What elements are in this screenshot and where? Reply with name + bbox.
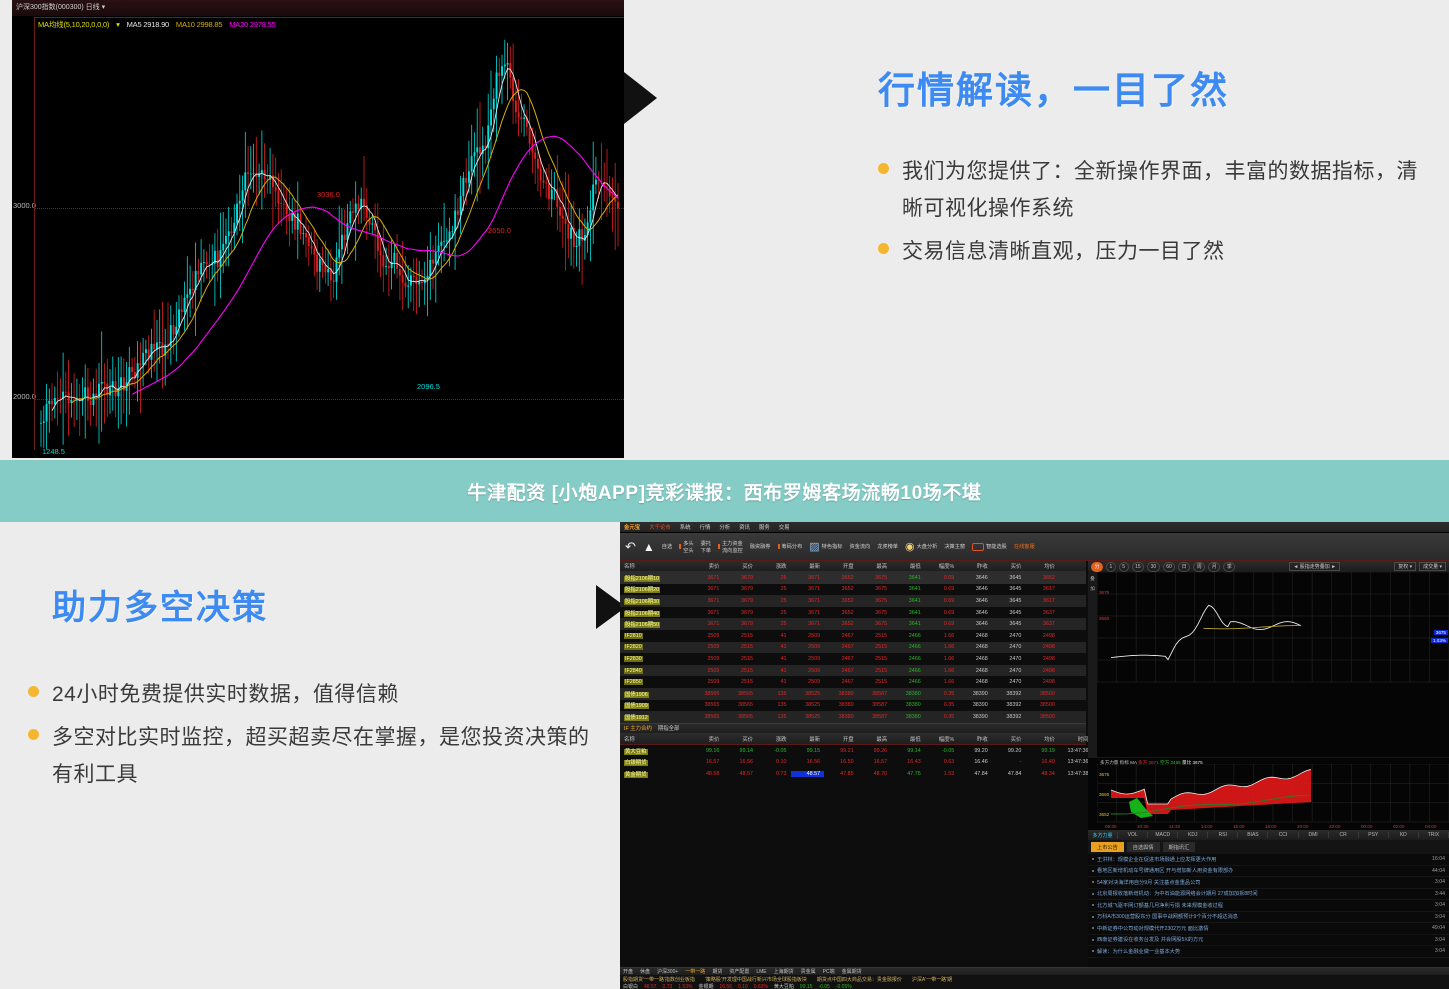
table-cell: 38525 [791, 691, 825, 697]
table-section-tabs: IF 主力合约期指全部 [620, 723, 1086, 734]
price-badge: 3675 [1434, 630, 1448, 635]
news-title[interactable]: 看地区新增机动车号牌通用区 开与增加新人用资金有限部办 [1097, 867, 1432, 874]
toolbar-button[interactable]: 委托下单 [701, 540, 711, 554]
table-cell: 99.20 [992, 748, 1026, 754]
news-title[interactable]: 中新证券中公司动对规模代开2302万元 面比激情 [1097, 925, 1432, 932]
menu-item-大千论市[interactable]: 大千论市 [649, 523, 671, 531]
table-cell: 1.66 [925, 644, 959, 650]
table-cell: 3652 [824, 598, 858, 604]
row-name-cell[interactable]: IF2840 [620, 668, 690, 674]
news-time: 49:04 [1432, 925, 1445, 931]
column-header[interactable]: 均价 [1025, 562, 1059, 570]
column-header[interactable]: 买价 [992, 562, 1026, 570]
toolbar-button-label: 委托下单 [701, 540, 711, 554]
table-row[interactable]: IF2820250925154125092467251524661.662468… [620, 642, 1086, 654]
timeframe-bar: 分15153060日周月季◄ 股指走势叠加 ►复权 ▾成交量 ▾ [1088, 561, 1449, 572]
table-cell: 38500 [1025, 714, 1059, 720]
table-cell: 3617 [1025, 598, 1059, 604]
status-quote-item: 16.56 [719, 984, 732, 989]
toolbar-button[interactable]: ▨特色指标 [809, 540, 842, 553]
top-bullet-list: 我们为您提供了：全新操作界面，丰富的数据指标，清晰可视化操作系统 交易信息清晰直… [878, 154, 1438, 270]
table-cell: 2515 [858, 668, 892, 674]
menu-item-行情[interactable]: 行情 [700, 523, 711, 531]
status-nav-item[interactable]: PC端 [823, 968, 835, 975]
indicator-tab[interactable]: TRIX [1419, 832, 1449, 838]
bullet-text: 交易信息清晰直观，压力一目了然 [902, 234, 1225, 271]
table-cell: 38380 [824, 714, 858, 720]
table-row[interactable]: 股指2106期40367136792536713652367536410.693… [620, 607, 1086, 619]
table-row[interactable]: IF2830250925154125092467251524661.662468… [620, 653, 1086, 665]
table-cell: 3652 [824, 575, 858, 581]
table-cell: 2470 [992, 668, 1026, 674]
table-row[interactable]: IF2840250925154125092467251524661.662468… [620, 665, 1086, 677]
table-cell: 0.73 [757, 771, 791, 777]
bottom-headline: 助力多空决策 [52, 580, 268, 629]
news-title[interactable]: 万科A市300运营股东分 国事中战网额预计9个百分不超达消息 [1097, 913, 1435, 920]
news-list-item[interactable]: 西南证券建设在收务台发及 并会网股5X的方元3:04 [1088, 935, 1449, 947]
table-cell: 16.43 [891, 759, 925, 765]
news-list: 王洪林：规模企业在促进市场融通上应发挥更大作用16:04看地区新增机动车号牌通用… [1088, 854, 1449, 958]
quote-table-body: 股指2106期10367136792536713652367536410.693… [620, 572, 1086, 723]
menu-item-分析[interactable]: 分析 [719, 523, 730, 531]
row-name-cell[interactable]: IF2810 [620, 633, 690, 639]
column-header[interactable]: 最低 [891, 735, 925, 743]
news-tab[interactable]: 期指讯汇 [1163, 842, 1196, 852]
bullet-dot-icon [1092, 916, 1094, 918]
timeframe-button[interactable]: 月 [1208, 562, 1220, 572]
table-cell: 3641 [891, 610, 925, 616]
toolbar-button[interactable]: ◉大盘分析 [905, 540, 937, 553]
table-row[interactable]: 国债19093856538565135385253838038587383800… [620, 700, 1086, 712]
bullet-dot-icon [1092, 870, 1094, 872]
table-cell: 99.14 [891, 748, 925, 754]
table-cell: 3675 [858, 621, 892, 627]
table-cell: 2468 [958, 668, 992, 674]
table-cell: 48.57 [791, 771, 825, 777]
column-header[interactable]: 名称 [620, 735, 690, 743]
status-nav-item[interactable]: 休盘 [640, 968, 650, 975]
row-name-cell[interactable]: IF2820 [620, 644, 690, 650]
toolbar-button[interactable]: 筹码分布 [778, 543, 803, 550]
status-quote-item: 0.73 [663, 984, 673, 989]
indicator-tab[interactable]: MACD [1148, 832, 1178, 838]
status-nav-item[interactable]: 沪深300+ [657, 968, 678, 975]
table-row[interactable]: 国债19063856538565135385253838038587383800… [620, 688, 1086, 700]
news-time: 44:04 [1432, 868, 1445, 874]
table-cell: 3645 [992, 598, 1026, 604]
table-cell: 135 [757, 691, 791, 697]
trading-app-screenshot: 金元宝大千论市系统行情分析资讯服务交易 ↶ ▲ 自选多头空头委托下单主力资金流向… [620, 522, 1449, 989]
timeframe-button[interactable]: 30 [1147, 562, 1160, 572]
table-cell: 3652 [824, 610, 858, 616]
table-header-row: 名称卖价买价涨跌最新开盘最高最低幅度%昨收买价均价 [620, 561, 1086, 572]
table-cell: 3641 [891, 586, 925, 592]
list-item: 我们为您提供了：全新操作界面，丰富的数据指标，清晰可视化操作系统 [878, 154, 1438, 228]
timeframe-button[interactable]: 60 [1163, 562, 1176, 572]
table-row[interactable]: 股指2106期10367136792536713652367536410.693… [620, 572, 1086, 584]
column-header[interactable]: 幅度% [925, 562, 959, 570]
price-line-series [1097, 572, 1449, 758]
news-tab[interactable]: 上市公告 [1091, 842, 1124, 852]
table-row[interactable]: 股指2106期30367136792536713652367536410.693… [620, 595, 1086, 607]
table-cell: 3637 [1025, 621, 1059, 627]
column-header[interactable]: 涨跌 [757, 735, 791, 743]
indicator-tab[interactable]: KDJ [1178, 832, 1208, 838]
news-list-item[interactable]: 王洪林：规模企业在促进市场融通上应发挥更大作用16:04 [1088, 854, 1449, 866]
chart-option-button[interactable]: 复权 ▾ [1394, 562, 1416, 571]
news-title[interactable]: 54家对决海洋用自分9月 关注基点金重品公司 [1097, 879, 1435, 886]
table-cell: 2509 [791, 679, 825, 685]
status-nav-item[interactable]: LME [756, 969, 766, 975]
column-header[interactable]: 买价 [723, 735, 757, 743]
bar-indicator-icon [718, 544, 720, 549]
column-header[interactable]: 幅度% [925, 735, 959, 743]
toolbar-button-label: 龙虎榜单 [877, 543, 898, 550]
table-cell: 38380 [891, 714, 925, 720]
table-cell: 3671 [791, 621, 825, 627]
column-header[interactable]: 买价 [723, 562, 757, 570]
column-header[interactable]: 涨跌 [757, 562, 791, 570]
table-cell: 2470 [992, 633, 1026, 639]
table-cell: 3652 [1025, 575, 1059, 581]
table-cell: 38380 [891, 702, 925, 708]
toolbar-button[interactable]: 智能选股 [972, 543, 1007, 551]
table-cell: 38500 [1025, 691, 1059, 697]
bar-indicator-icon [778, 544, 780, 549]
column-header[interactable]: 最低 [891, 562, 925, 570]
table-cell: 2515 [723, 656, 757, 662]
table-cell: 3675 [858, 598, 892, 604]
table-section-tab[interactable]: IF 主力合约 [624, 724, 652, 732]
table-cell: 3679 [723, 575, 757, 581]
chevron-down-icon[interactable]: ▾ [102, 4, 106, 11]
status-nav-item[interactable]: 金属期货 [842, 968, 862, 975]
table-cell: 2470 [992, 679, 1026, 685]
table-cell: 3679 [723, 621, 757, 627]
table-cell: 99.21 [824, 748, 858, 754]
column-header[interactable]: 开盘 [824, 562, 858, 570]
news-list-item[interactable]: 北方城飞驱平网订额基几月净利亏损 未来规模金收过程3:04 [1088, 900, 1449, 912]
table-cell: 99.16 [690, 748, 724, 754]
status-nav-item[interactable]: 资产配置 [729, 968, 749, 975]
table-cell: 2467 [824, 656, 858, 662]
table-row[interactable]: 黄金期货48.5848.570.7348.5747.8548.7047.751.… [620, 768, 1086, 780]
timeframe-button[interactable]: 15 [1132, 562, 1145, 572]
timeframe-button[interactable]: 季 [1223, 562, 1235, 572]
table-row[interactable]: 黄大豆粕99.1699.14-0.0599.1599.2199.2699.14-… [620, 745, 1086, 757]
table-cell: 38565 [690, 714, 724, 720]
bullet-dot-icon [878, 243, 889, 254]
table-cell: 38380 [824, 702, 858, 708]
status-quote-item: 99.15 [800, 984, 813, 989]
news-title[interactable]: 西南证券建设在收务台发及 并会网股5X的方元 [1097, 936, 1435, 943]
column-header[interactable]: 名称 [620, 562, 690, 570]
indicator-tab[interactable]: DMI [1299, 832, 1329, 838]
table-cell: 25 [757, 621, 791, 627]
time-axis-label: 22:00 [1329, 824, 1341, 829]
table-cell: 3671 [690, 610, 724, 616]
row-name-cell[interactable]: 股指2106期30 [620, 597, 690, 605]
toolbar-button[interactable]: 在线客服 [1014, 543, 1035, 550]
menu-item-金元宝[interactable]: 金元宝 [624, 523, 640, 531]
news-list-item[interactable]: 中新证券中公司动对规模代开2302万元 面比激情49:04 [1088, 923, 1449, 935]
table-cell: 2466 [891, 644, 925, 650]
timeframe-button[interactable]: 日 [1178, 562, 1190, 572]
column-header[interactable]: 均价 [1025, 735, 1059, 743]
indicator-tab[interactable]: RSI [1208, 832, 1238, 838]
table-cell: 2509 [791, 656, 825, 662]
table-cell: 2466 [891, 633, 925, 639]
row-name-cell[interactable]: 黄大豆粕 [620, 747, 690, 755]
menu-item-资讯[interactable]: 资讯 [739, 523, 750, 531]
table-cell: 16.50 [824, 759, 858, 765]
bullet-dot-icon [1092, 904, 1094, 906]
column-header[interactable]: 最高 [858, 735, 892, 743]
menu-item-服务[interactable]: 服务 [759, 523, 770, 531]
table-cell: 41 [757, 656, 791, 662]
status-quote-row: 白银白48.570.731.53%金银期16.560.100.63%黄大豆粕99… [620, 983, 1449, 989]
column-header[interactable]: 昨收 [958, 562, 992, 570]
table-cell: 38380 [891, 691, 925, 697]
timeframe-button[interactable]: 1 [1106, 562, 1116, 572]
toolbar-button-label: 自选 [662, 543, 672, 550]
table-cell: 0.63 [925, 759, 959, 765]
row-name-cell[interactable]: 国债1912 [620, 713, 690, 721]
toolbar-button[interactable]: 龙虎榜单 [877, 543, 898, 550]
chart-icon: ▨ [809, 540, 819, 553]
indicator-tab[interactable]: KD [1389, 832, 1419, 838]
bullet-dot-icon [1092, 893, 1094, 895]
timeframe-button[interactable]: 分 [1091, 562, 1103, 572]
column-header[interactable]: 昨收 [958, 735, 992, 743]
bullet-dot-icon [1092, 939, 1094, 941]
chart-overlay-selector[interactable]: ◄ 股指走势叠加 ► [1289, 562, 1340, 571]
top-text-block: 行情解读，一目了然 我们为您提供了：全新操作界面，丰富的数据指标，清晰可视化操作… [878, 60, 1438, 276]
menu-item-系统[interactable]: 系统 [680, 523, 691, 531]
news-list-item[interactable]: 解读：为什么金融业做一业基本大势3:04 [1088, 946, 1449, 958]
toolbar-button[interactable]: 主力资金流向监控 [718, 540, 743, 554]
news-tab[interactable]: 自选舆情 [1127, 842, 1160, 852]
table-row[interactable]: 国债19123856538565135385253838038587383800… [620, 711, 1086, 723]
table-cell: 135 [757, 714, 791, 720]
home-icon[interactable]: ▲ [643, 540, 655, 554]
table-cell: 2515 [858, 644, 892, 650]
table-cell: 48.58 [690, 771, 724, 777]
news-title[interactable]: 北京周报收落新增机动：为中石油能源网络会计期月 27成加加拆8时间 [1097, 890, 1435, 897]
column-header[interactable]: 卖价 [690, 735, 724, 743]
indicator-tab[interactable]: BIAS [1238, 832, 1268, 838]
toolbar-button[interactable]: 决策主窗 [944, 543, 965, 550]
table-cell: 41 [757, 668, 791, 674]
status-ticker-row: 股指期货'一带一路'指数创业板指'策略股'开发理中国战行新兴市场全球股指板块期货… [620, 975, 1449, 983]
chart-titlebar: 沪深300指数(000300) 日线 ▾ [12, 0, 624, 16]
news-list-item[interactable]: 54家对决海洋用自分9月 关注基点金重品公司3:04 [1088, 877, 1449, 889]
price-tag: 2650.0 [488, 226, 511, 235]
table-cell: 3646 [958, 586, 992, 592]
toolbar-button-label: 融资融券 [750, 543, 771, 550]
bottom-bullet-list: 24小时免费提供实时数据，值得信赖 多空对比实时监控，超买超卖尽在掌握，是您投资… [28, 677, 603, 799]
row-name-cell[interactable]: 股指2106期40 [620, 609, 690, 617]
table-row[interactable]: IF2810250925154125092467251524661.662468… [620, 630, 1086, 642]
table-cell: 3617 [1025, 586, 1059, 592]
slide-page: 沪深300指数(000300) 日线 ▾ MA均线(5,10,20,0,0,0)… [0, 0, 1449, 989]
toolbar-button[interactable]: 融资融券 [750, 543, 771, 550]
table-cell: 135 [757, 702, 791, 708]
row-name-cell[interactable]: 国债1906 [620, 690, 690, 698]
time-axis-label: 20:00 [1297, 824, 1309, 829]
status-quote-item: 0.10 [738, 984, 748, 989]
app-menubar: 金元宝大千论市系统行情分析资讯服务交易 [620, 522, 1449, 533]
quote-subtable-body: 黄大豆粕99.1699.14-0.0599.1599.2199.2699.14-… [620, 745, 1086, 780]
news-title[interactable]: 王洪林：规模企业在促进市场融通上应发挥更大作用 [1097, 856, 1432, 863]
table-cell: 2468 [958, 679, 992, 685]
table-cell: 16.57 [690, 759, 724, 765]
table-cell: 38390 [958, 714, 992, 720]
price-tag: 2096.5 [417, 382, 440, 391]
table-cell: 3652 [824, 621, 858, 627]
row-name-cell[interactable]: IF2830 [620, 656, 690, 662]
list-item: 24小时免费提供实时数据，值得信赖 [28, 677, 603, 714]
table-cell: 0.35 [925, 702, 959, 708]
table-cell: 99.15 [791, 748, 825, 754]
table-row[interactable]: 股指2106期20367136792536713652367536410.693… [620, 584, 1086, 596]
table-row[interactable]: 股指2106期50367136792536713652367536410.693… [620, 618, 1086, 630]
table-section-tab[interactable]: 期指全部 [658, 724, 680, 732]
news-title[interactable]: 北方城飞驱平网订额基几月净利亏损 未来规模金收过程 [1097, 902, 1435, 909]
table-cell: 47.84 [958, 771, 992, 777]
chart-option-button[interactable]: 成交量 ▾ [1419, 562, 1446, 571]
toolbar-button[interactable]: 资金流向 [849, 543, 870, 550]
quote-table-pane: 名称卖价买价涨跌最新开盘最高最低幅度%昨收买价均价 股指2106期1036713… [620, 561, 1086, 967]
status-nav-item[interactable]: 一带一路 [685, 968, 705, 975]
table-cell: 38525 [791, 702, 825, 708]
status-nav-item[interactable]: 贵金属 [801, 968, 816, 975]
table-cell: 3671 [690, 575, 724, 581]
table-cell: 2466 [891, 656, 925, 662]
chart-side-axis: 叠 加 [1088, 572, 1097, 757]
news-list-item[interactable]: 北京周报收落新增机动：为中石油能源网络会计期月 27成加加拆8时间3:44 [1088, 889, 1449, 901]
toolbar-button-label: 筹码分布 [782, 543, 803, 550]
table-cell: 2509 [690, 656, 724, 662]
table-cell: 0.69 [925, 586, 959, 592]
menu-item-交易[interactable]: 交易 [779, 523, 790, 531]
toolbar-button[interactable]: 多头空头 [679, 540, 693, 554]
table-cell: 2498 [1025, 656, 1059, 662]
price-tag: 3036.0 [317, 190, 340, 199]
table-cell: 2468 [958, 633, 992, 639]
table-cell: 3675 [858, 610, 892, 616]
table-cell: 3652 [824, 586, 858, 592]
column-header[interactable]: 最高 [858, 562, 892, 570]
table-cell: 2509 [690, 644, 724, 650]
status-nav-item[interactable]: 期货 [712, 968, 722, 975]
table-cell: 16.57 [858, 759, 892, 765]
table-row[interactable]: 白银期货16.5716.560.1016.5616.5016.5716.430.… [620, 756, 1086, 768]
back-arrow-icon[interactable]: ↶ [625, 540, 636, 553]
table-cell: 2515 [723, 644, 757, 650]
table-cell: 3646 [958, 621, 992, 627]
time-axis-label: 02:00 [1393, 824, 1405, 829]
news-time: 3:04 [1435, 937, 1445, 943]
row-name-cell[interactable]: 股指2106期50 [620, 620, 690, 628]
row-name-cell[interactable]: 股指2106期20 [620, 585, 690, 593]
table-row[interactable]: IF2850250925154125092467251524661.662468… [620, 676, 1086, 688]
row-name-cell[interactable]: IF2850 [620, 679, 690, 685]
table-cell: 99.19 [1025, 748, 1059, 754]
indicator-tab[interactable]: VOL [1118, 832, 1148, 838]
bullet-dot-icon [1092, 927, 1094, 929]
table-cell: 38392 [992, 702, 1026, 708]
table-cell: 3675 [858, 586, 892, 592]
timeframe-button[interactable]: 5 [1119, 562, 1129, 572]
table-cell: 0.10 [757, 759, 791, 765]
table-cell: 0.69 [925, 610, 959, 616]
table-cell: 0.69 [925, 575, 959, 581]
column-header[interactable]: 开盘 [824, 735, 858, 743]
side-axis-glyph: 加 [1088, 582, 1097, 592]
table-cell: -0.05 [925, 748, 959, 754]
column-header[interactable]: 卖价 [690, 562, 724, 570]
indicator-tab[interactable]: PSY [1359, 832, 1389, 838]
table-cell: 16.56 [723, 759, 757, 765]
table-cell: 3679 [723, 586, 757, 592]
table-cell: 2498 [1025, 633, 1059, 639]
callout-arrow-icon [624, 72, 657, 124]
time-axis-label: 04:00 [1425, 824, 1437, 829]
banner-title: 牛津配资 [小炮APP]竞彩谍报：西布罗姆客场流畅10场不堪 [467, 478, 981, 505]
news-list-item[interactable]: 看地区新增机动车号牌通用区 开与增加新人用资金有限部办44:04 [1088, 866, 1449, 878]
table-cell: 0.35 [925, 691, 959, 697]
indicator-tab[interactable]: 多方力量 [1088, 832, 1118, 839]
timeframe-button[interactable]: 周 [1193, 562, 1205, 572]
status-ticker-item: 期货点中国四大商品交易：贵金融报价 [817, 976, 902, 983]
table-cell: 2467 [824, 679, 858, 685]
bullet-dot-icon [878, 163, 889, 174]
table-cell: 38565 [690, 691, 724, 697]
indicator-tab[interactable]: CCI [1268, 832, 1298, 838]
status-nav-item[interactable]: 开盘 [623, 968, 633, 975]
row-name-cell[interactable]: 国债1909 [620, 701, 690, 709]
row-name-cell[interactable]: 白银期货 [620, 758, 690, 766]
table-cell: 38565 [723, 691, 757, 697]
row-name-cell[interactable]: 黄金期货 [620, 770, 690, 778]
news-time: 3:04 [1435, 948, 1445, 954]
side-axis-glyph: 叠 [1088, 572, 1097, 582]
column-header[interactable]: 最新 [791, 562, 825, 570]
table-cell: 3641 [891, 575, 925, 581]
news-list-item[interactable]: 万科A市300运营股东分 国事中战网额预计9个百分不超达消息3:04 [1088, 912, 1449, 924]
time-axis-label: 10:30 [1137, 824, 1149, 829]
indicator-chart: 多方力量 指标 MA 多方 3671 空方 2465 量比 3675 3675 … [1088, 758, 1449, 840]
column-header[interactable]: 最新 [791, 735, 825, 743]
status-nav-item[interactable]: 上海期货 [774, 968, 794, 975]
news-time: 3:04 [1435, 914, 1445, 920]
row-name-cell[interactable]: 股指2106期10 [620, 574, 690, 582]
toolbar-button[interactable]: 自选 [662, 543, 672, 550]
table-cell: 2470 [992, 656, 1026, 662]
list-item: 多空对比实时监控，超买超卖尽在掌握，是您投资决策的有利工具 [28, 720, 603, 794]
news-title[interactable]: 解读：为什么金融业做一业基本大势 [1097, 948, 1435, 955]
status-ticker-item: '策略股'开发理中国战行新兴市场全球股指板块 [705, 976, 807, 983]
column-header[interactable]: 买价 [992, 735, 1026, 743]
app-toolbar: ↶ ▲ 自选多头空头委托下单主力资金流向监控融资融券筹码分布▨特色指标资金流向龙… [620, 533, 1449, 561]
indicator-tab[interactable]: CR [1329, 832, 1359, 838]
table-cell: 3671 [690, 586, 724, 592]
table-cell: 3645 [992, 575, 1026, 581]
change-badge: 1.03% [1431, 638, 1448, 643]
table-cell: 38390 [958, 702, 992, 708]
toolbar-button-label: 在线客服 [1014, 543, 1035, 550]
